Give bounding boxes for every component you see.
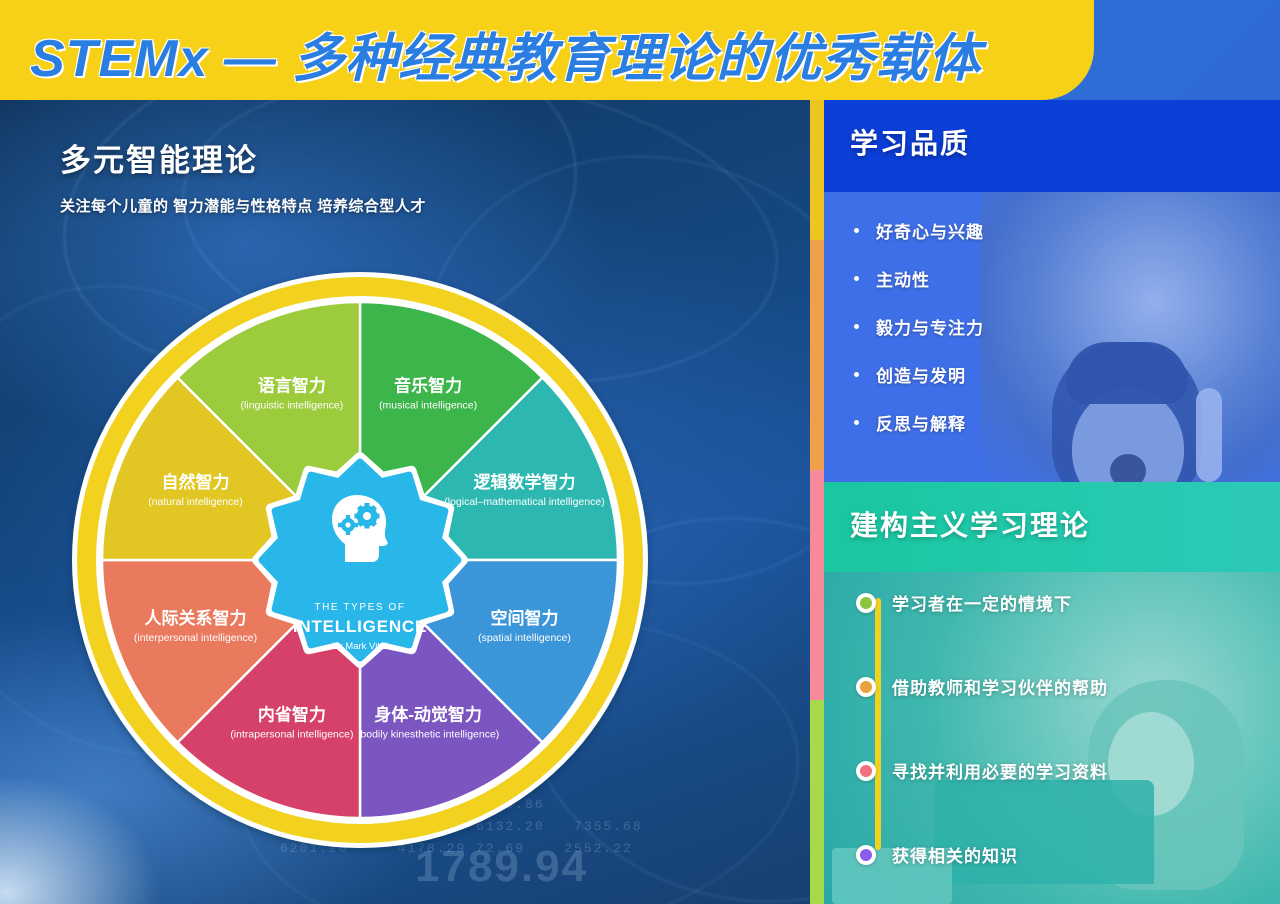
segment-label-cn: 身体-动觉智力	[374, 705, 482, 725]
bullet-dot-icon	[854, 420, 859, 425]
intelligence-wheel-svg: 音乐智力(musical intelligence)逻辑数学智力(logical…	[65, 265, 655, 855]
segment-label-cn: 语言智力	[258, 376, 326, 396]
student-photo-1	[980, 192, 1280, 482]
segment-label-cn: 逻辑数学智力	[474, 472, 576, 492]
segment-label-cn: 音乐智力	[394, 376, 462, 396]
constructivism-title: 建构主义学习理论	[850, 504, 1090, 544]
left-panel-subtitle: 关注每个儿童的 智力潜能与性格特点 培养综合型人才	[60, 195, 426, 216]
learning-quality-title: 学习品质	[850, 122, 970, 162]
bullet-dot-icon	[854, 372, 859, 377]
photo-shape	[1196, 388, 1222, 482]
timeline-item-label: 获得相关的知识	[892, 842, 1018, 867]
segment-label-cn: 自然智力	[162, 472, 230, 492]
timeline-item[interactable]: 学习者在一定的情境下	[856, 590, 1072, 615]
segment-label-en: (musical intelligence)	[379, 400, 477, 412]
page-title: STEMx — 多种经典教育理论的优秀载体	[30, 16, 981, 91]
learning-quality-list: 好奇心与兴趣主动性毅力与专注力创造与发明反思与解释	[824, 192, 984, 458]
learning-quality-header: 学习品质	[824, 100, 1280, 192]
segment-label-en: (spatial intelligence)	[478, 632, 571, 644]
learning-quality-panel: 学习品质 好奇心与兴趣主动性毅力与专注力创造与发明反思与解释	[824, 100, 1280, 482]
segment-label-en: (linguistic intelligence)	[241, 400, 344, 412]
timeline-item[interactable]: 借助教师和学习伙伴的帮助	[856, 674, 1108, 699]
quality-item-label: 反思与解释	[876, 410, 966, 435]
timeline-line	[875, 598, 881, 850]
quality-list-item[interactable]: 主动性	[854, 266, 984, 291]
timeline-bullet-icon	[856, 845, 876, 865]
segment-label-cn: 人际关系智力	[145, 608, 247, 628]
quality-list-item[interactable]: 创造与发明	[854, 362, 984, 387]
timeline-bullet-icon	[856, 677, 876, 697]
stripe-segment	[810, 100, 824, 240]
timeline-item-label: 学习者在一定的情境下	[892, 590, 1072, 615]
header-bar: STEMx — 多种经典教育理论的优秀载体	[0, 0, 1094, 100]
hub-text-line3: by Mark Vital	[333, 641, 388, 652]
timeline-bullet-icon	[856, 593, 876, 613]
constructivism-header: 建构主义学习理论	[824, 482, 1280, 572]
timeline-item-label: 借助教师和学习伙伴的帮助	[892, 674, 1108, 699]
divider-stripe	[810, 100, 824, 904]
quality-item-label: 毅力与专注力	[876, 314, 984, 339]
segment-label-en: (bodily kinesthetic intelligence)	[357, 729, 499, 741]
photo-shape	[1066, 342, 1188, 404]
quality-item-label: 好奇心与兴趣	[876, 218, 984, 243]
segment-label-cn: 内省智力	[258, 705, 326, 725]
constructivism-timeline: 学习者在一定的情境下借助教师和学习伙伴的帮助寻找并利用必要的学习资料获得相关的知…	[824, 572, 1280, 904]
quality-list-item[interactable]: 好奇心与兴趣	[854, 218, 984, 243]
quality-list-item[interactable]: 毅力与专注力	[854, 314, 984, 339]
quality-item-label: 创造与发明	[876, 362, 966, 387]
stripe-segment	[810, 700, 824, 904]
stripe-segment	[810, 470, 824, 700]
quality-list-item[interactable]: 反思与解释	[854, 410, 984, 435]
multiple-intelligences-panel: 4261.37 8936.86 6843.93 8950.10 6132.20 …	[0, 100, 810, 904]
timeline-item[interactable]: 寻找并利用必要的学习资料	[856, 758, 1108, 783]
infographic-page: STEMx — 多种经典教育理论的优秀载体 4261.37 8936.86 68…	[0, 0, 1280, 904]
bullet-dot-icon	[854, 276, 859, 281]
timeline-item-label: 寻找并利用必要的学习资料	[892, 758, 1108, 783]
bullet-dot-icon	[854, 228, 859, 233]
hub-text-line2: INTELLIGENCE	[293, 617, 427, 636]
bullet-dot-icon	[854, 324, 859, 329]
stripe-segment	[810, 240, 824, 470]
timeline-bullet-icon	[856, 761, 876, 781]
hub-text-line1: THE TYPES OF	[314, 602, 405, 613]
constructivism-panel: 建构主义学习理论 学习者在一定的情境下借助教师和学习伙伴的帮助寻找并利用必要的学…	[824, 482, 1280, 904]
segment-label-en: (intrapersonal intelligence)	[230, 729, 353, 741]
intelligence-wheel: 音乐智力(musical intelligence)逻辑数学智力(logical…	[65, 265, 655, 855]
segment-label-en: (logical–mathematical intelligence)	[444, 496, 605, 508]
timeline-item[interactable]: 获得相关的知识	[856, 842, 1018, 867]
segment-label-en: (interpersonal intelligence)	[134, 632, 257, 644]
right-column: 学习品质 好奇心与兴趣主动性毅力与专注力创造与发明反思与解释 建构主义学习理论 …	[824, 100, 1280, 904]
quality-item-label: 主动性	[876, 266, 930, 291]
photo-shape	[1110, 454, 1146, 482]
segment-label-en: (natural intelligence)	[148, 496, 243, 508]
segment-label-cn: 空间智力	[491, 608, 559, 628]
left-panel-title: 多元智能理论	[60, 135, 258, 180]
